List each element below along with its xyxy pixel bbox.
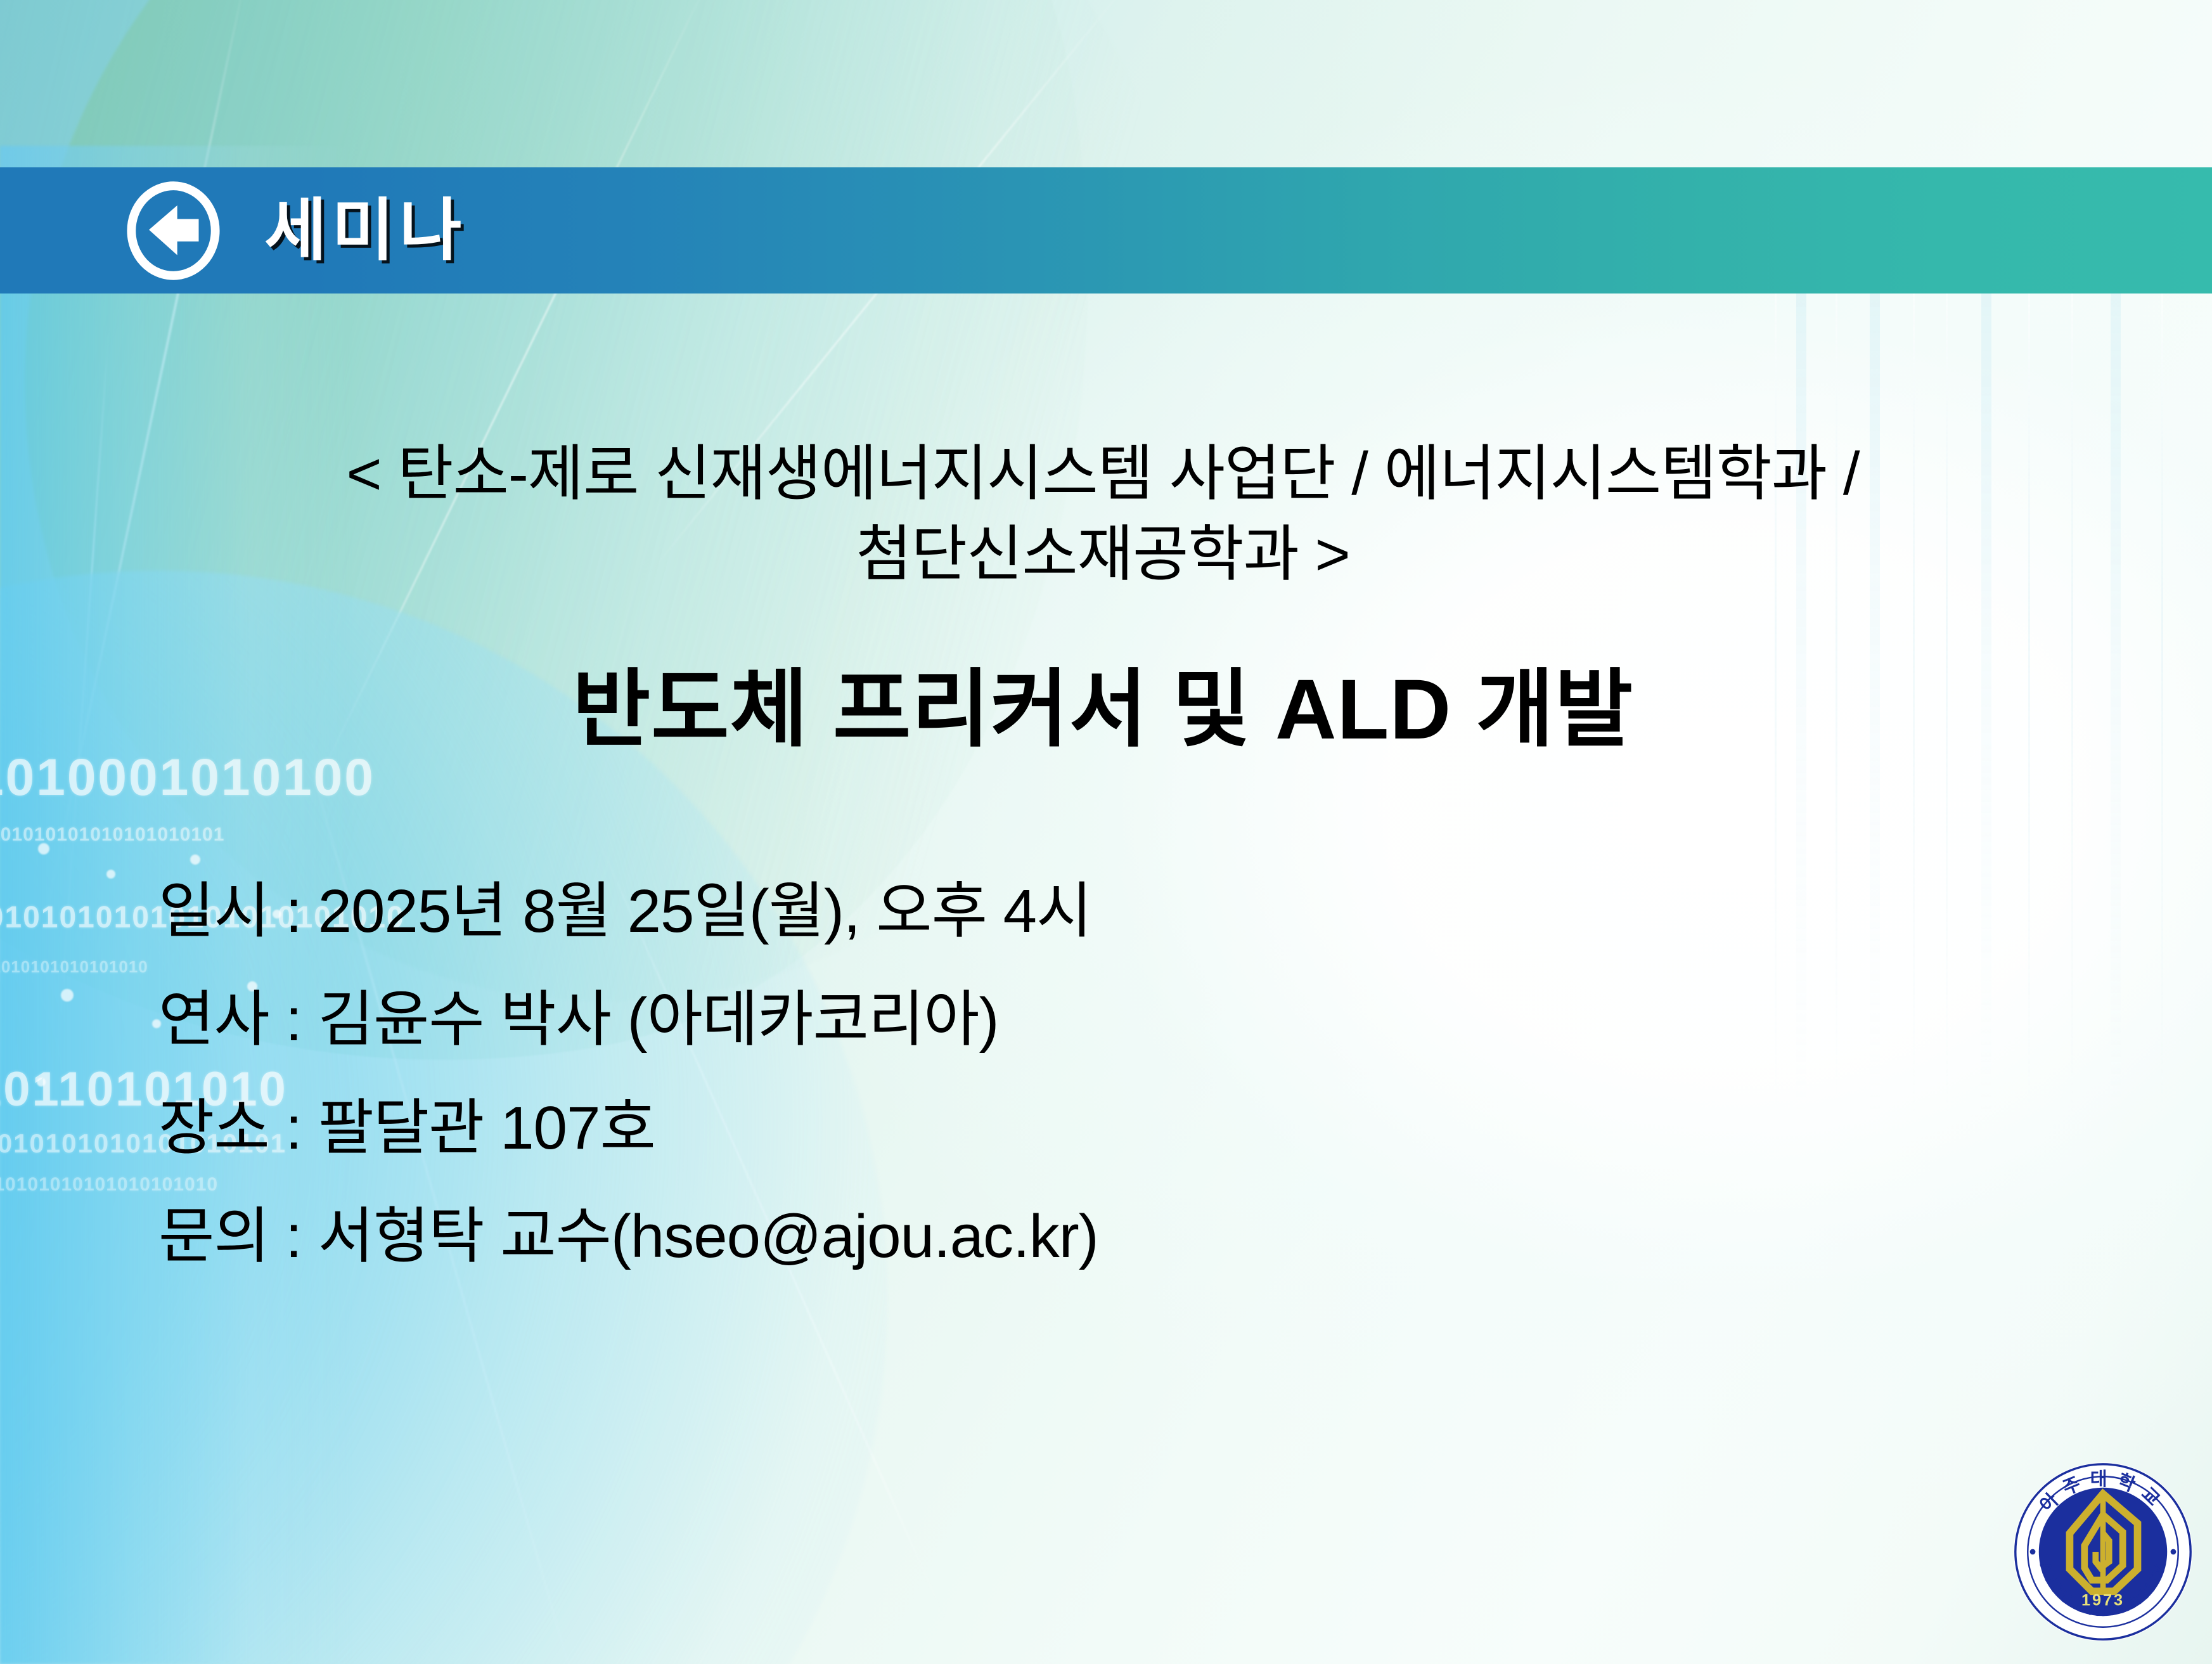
subtitle-block: < 탄소-제로 신재생에너지시스템 사업단 / 에너지시스템학과 / 첨단신소재…: [155, 434, 2050, 595]
circle-left-arrow-icon[interactable]: [124, 180, 222, 281]
seminar-poster-slide: 1010001010100 010101010101010101010101 1…: [0, 0, 2212, 1664]
header-bar: 세미나: [0, 167, 2212, 293]
detail-list: 일시 : 2025년 8월 25일(월), 오후 4시 연사 : 김윤수 박사 …: [158, 858, 1933, 1291]
logo-year: 1973: [2081, 1592, 2125, 1609]
top-fade-overlay: [0, 0, 2212, 168]
detail-line-datetime: 일시 : 2025년 8월 25일(월), 오후 4시: [158, 858, 1933, 966]
content-area: < 탄소-제로 신재생에너지시스템 사업단 / 에너지시스템학과 / 첨단신소재…: [0, 293, 2212, 1664]
detail-line-contact: 문의 : 서형탁 교수(hseo@ajou.ac.kr): [158, 1183, 1933, 1291]
ajou-logo-svg: 아주대학교 AJOU UNIVERSITY 1973: [2010, 1457, 2196, 1647]
subtitle-line-1: < 탄소-제로 신재생에너지시스템 사업단 / 에너지시스템학과 /: [155, 434, 2050, 515]
main-title: 반도체 프리커서 및 ALD 개발: [155, 661, 2050, 759]
detail-line-speaker: 연사 : 김윤수 박사 (아데카코리아): [158, 966, 1933, 1074]
header-title: 세미나: [264, 197, 466, 264]
ajou-university-logo: 아주대학교 AJOU UNIVERSITY 1973: [2010, 1457, 2196, 1647]
detail-line-venue: 장소 : 팔달관 107호: [158, 1074, 1933, 1183]
subtitle-line-2: 첨단신소재공학과 >: [155, 515, 2050, 595]
